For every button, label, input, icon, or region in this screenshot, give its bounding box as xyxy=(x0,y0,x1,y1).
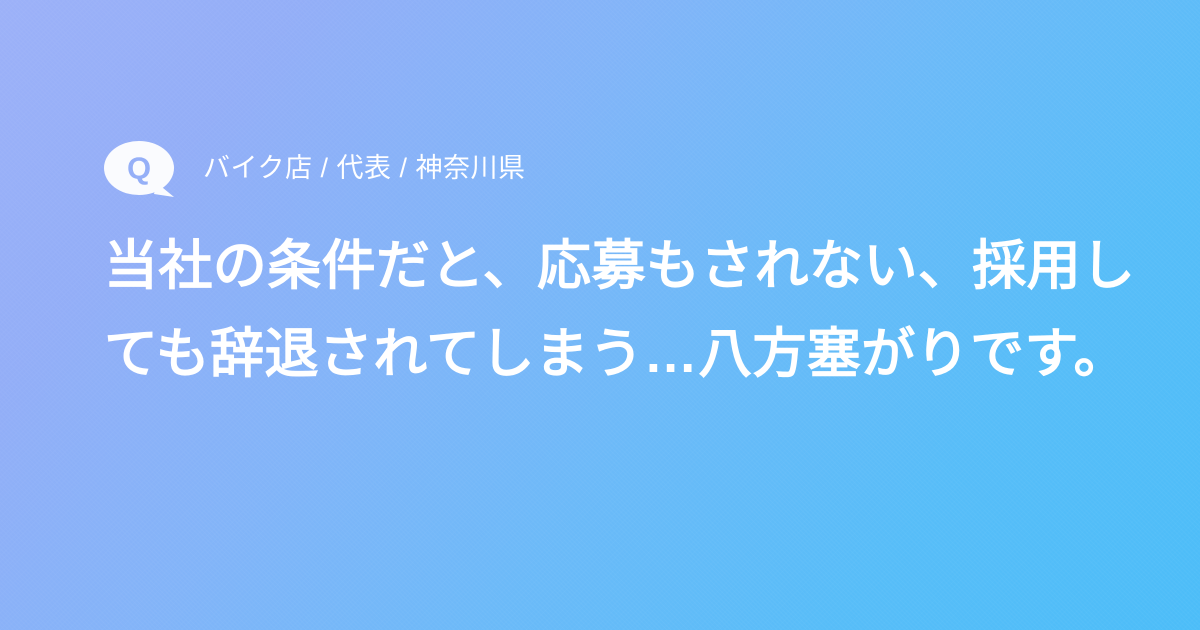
quote-card: Q バイク店 / 代表 / 神奈川県 当社の条件だと、応募もされない、採用し て… xyxy=(0,0,1200,630)
attribution-label: バイク店 / 代表 / 神奈川県 xyxy=(203,155,525,184)
headline-line: 当社の条件だと、応募もされない、採用し xyxy=(104,222,1104,310)
headline-line: ても辞退されてしまう…八方塞がりです。 xyxy=(104,310,1104,398)
quote-headline: 当社の条件だと、応募もされない、採用し ても辞退されてしまう…八方塞がりです。 xyxy=(104,222,1104,398)
speech-bubble-icon: Q xyxy=(104,141,174,197)
card-content: Q バイク店 / 代表 / 神奈川県 当社の条件だと、応募もされない、採用し て… xyxy=(104,0,1104,630)
attribution-row: Q バイク店 / 代表 / 神奈川県 xyxy=(104,139,525,199)
